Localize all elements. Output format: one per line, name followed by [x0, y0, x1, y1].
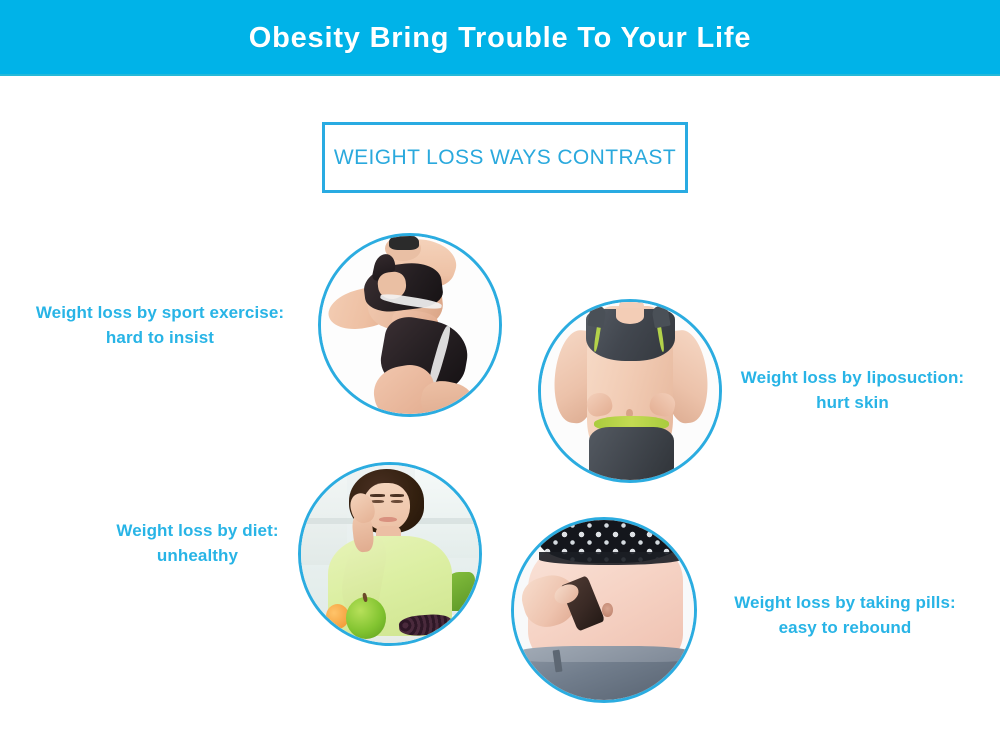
- pills-illustration: [514, 520, 694, 700]
- diet-eyebrow-left: [370, 494, 384, 496]
- label-diet-line1: Weight loss by diet:: [85, 518, 310, 543]
- lipo-bra-strap-right: [651, 304, 670, 328]
- label-weight-loss-sport-exercise: Weight loss by sport exercise: hard to i…: [10, 300, 310, 350]
- label-weight-loss-taking-pills: Weight loss by taking pills: easy to reb…: [700, 590, 990, 640]
- diet-lips: [379, 517, 397, 522]
- liposuction-illustration: [541, 302, 719, 480]
- pills-top-hem: [539, 552, 683, 565]
- label-liposuction-line1: Weight loss by liposuction:: [715, 365, 990, 390]
- diet-illustration: [301, 465, 479, 643]
- sport-hair: [389, 234, 419, 250]
- diet-eye-left: [371, 500, 383, 503]
- label-pills-line1: Weight loss by taking pills:: [700, 590, 990, 615]
- photo-weight-loss-taking-pills: [511, 517, 697, 703]
- photo-weight-loss-sport-exercise: [318, 233, 502, 417]
- page-title: Obesity Bring Trouble To Your Life: [249, 22, 752, 55]
- label-liposuction-line2: hurt skin: [715, 390, 990, 415]
- photo-weight-loss-liposuction: [538, 299, 722, 483]
- label-pills-line2: easy to rebound: [700, 615, 990, 640]
- pills-jeans-waistband: [518, 646, 691, 662]
- pills-navel: [602, 603, 613, 617]
- label-sport-line2: hard to insist: [10, 325, 310, 350]
- header-inner: Obesity Bring Trouble To Your Life: [0, 0, 1000, 76]
- header-underline: [0, 74, 1000, 76]
- diet-eye-right: [391, 500, 403, 503]
- diet-eyebrow-right: [390, 494, 404, 496]
- label-weight-loss-diet: Weight loss by diet: unhealthy: [85, 518, 310, 568]
- section-title-text: WEIGHT LOSS WAYS CONTRAST: [334, 146, 676, 170]
- lipo-leggings: [589, 427, 674, 483]
- label-sport-line1: Weight loss by sport exercise:: [10, 300, 310, 325]
- label-diet-line2: unhealthy: [85, 543, 310, 568]
- photo-weight-loss-diet: [298, 462, 482, 646]
- label-weight-loss-liposuction: Weight loss by liposuction: hurt skin: [715, 365, 990, 415]
- sport-exercise-illustration: [321, 236, 499, 414]
- section-title-box: WEIGHT LOSS WAYS CONTRAST: [322, 122, 688, 193]
- page-header-banner: Obesity Bring Trouble To Your Life: [0, 0, 1000, 76]
